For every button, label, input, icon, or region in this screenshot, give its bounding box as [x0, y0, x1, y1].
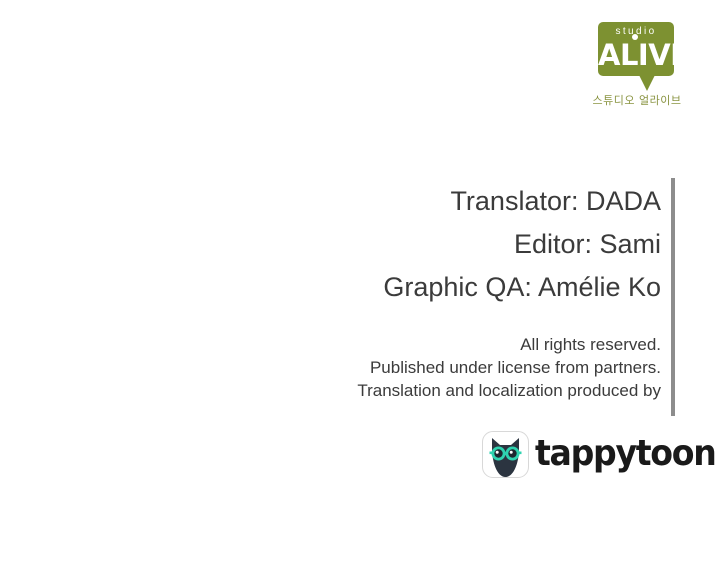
tappytoon-wordmark: tappytoon	[535, 432, 716, 476]
studio-alive-bubble-tail	[638, 73, 656, 91]
legal-block: All rights reserved. Published under lic…	[200, 333, 661, 402]
studio-alive-main-text: ALIVE	[598, 38, 674, 72]
credits-vertical-rule	[671, 178, 675, 416]
credit-line-editor: Editor: Sami	[200, 223, 661, 266]
credits-page: studio ALIVE 스튜디오 얼라이브 Translator: DADA …	[0, 0, 720, 579]
legal-line-rights: All rights reserved.	[200, 333, 661, 356]
tappytoon-cat-icon	[482, 431, 529, 478]
credits-block: Translator: DADA Editor: Sami Graphic QA…	[200, 180, 661, 309]
studio-alive-logo: studio ALIVE 스튜디오 얼라이브	[592, 22, 682, 112]
studio-alive-korean-text: 스튜디오 얼라이브	[592, 92, 682, 108]
legal-line-localization: Translation and localization produced by	[200, 379, 661, 402]
legal-line-license: Published under license from partners.	[200, 356, 661, 379]
credit-line-graphic-qa: Graphic QA: Amélie Ko	[200, 266, 661, 309]
tappytoon-logo: tappytoon	[482, 429, 674, 479]
credit-line-translator: Translator: DADA	[200, 180, 661, 223]
